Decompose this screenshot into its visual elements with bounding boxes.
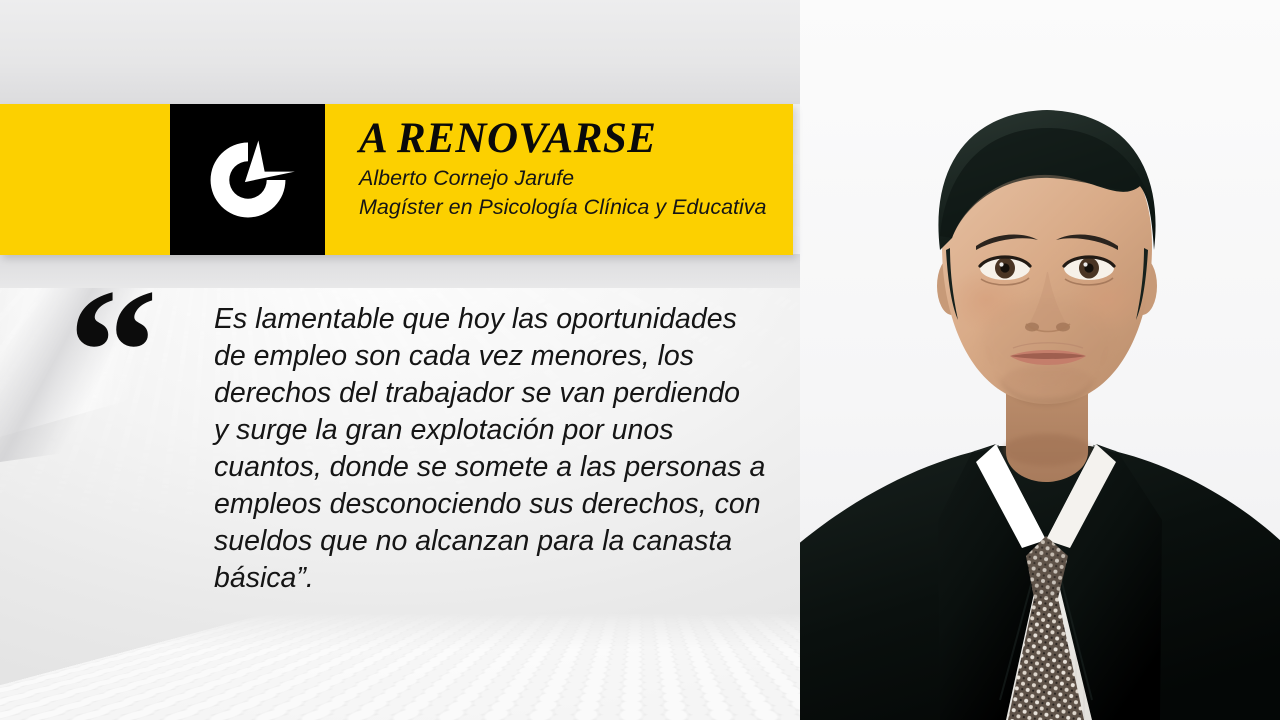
slide-canvas: A RENOVARSE Alberto Cornejo Jarufe Magís… <box>0 0 1280 720</box>
portrait-illustration <box>800 0 1280 720</box>
author-credentials: Magíster en Psicología Clínica y Educati… <box>359 193 793 222</box>
circular-arrow-logo-icon <box>196 128 300 232</box>
banner-left-spacer <box>0 104 170 255</box>
quote-line: básica”. <box>214 560 794 597</box>
author-name: Alberto Cornejo Jarufe <box>359 164 793 193</box>
logo-box <box>170 104 325 255</box>
quote-line: de empleo son cada vez menores, los <box>214 338 794 375</box>
title-banner: A RENOVARSE Alberto Cornejo Jarufe Magís… <box>0 104 793 255</box>
portrait-photo <box>800 0 1280 720</box>
open-quote-icon: “ <box>68 262 158 442</box>
quote-line: empleos desconociendo sus derechos, con <box>214 486 794 523</box>
banner-text-block: A RENOVARSE Alberto Cornejo Jarufe Magís… <box>325 104 793 255</box>
quote-line: y surge la gran explotación por unos <box>214 412 794 449</box>
quote-line: sueldos que no alcanzan para la canasta <box>214 523 794 560</box>
quote-line: derechos del trabajador se van perdiendo <box>214 375 794 412</box>
quote-line: cuantos, donde se somete a las personas … <box>214 449 794 486</box>
quote-line: Es lamentable que hoy las oportunidades <box>214 301 794 338</box>
page-title: A RENOVARSE <box>359 114 793 164</box>
quote-text: Es lamentable que hoy las oportunidades … <box>214 301 794 597</box>
